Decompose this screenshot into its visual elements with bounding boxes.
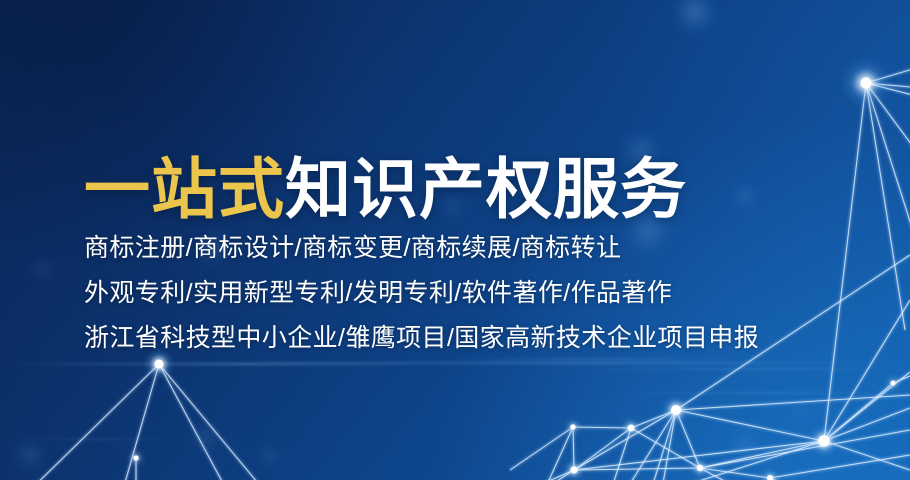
headline-highlight: 一站式 (84, 152, 285, 226)
page-title: 一站式知识产权服务 (84, 156, 687, 222)
banner-content: 一站式知识产权服务 商标注册/商标设计/商标变更/商标续展/商标转让 外观专利/… (84, 0, 824, 480)
service-line-1: 商标注册/商标设计/商标变更/商标续展/商标转让 (84, 226, 759, 271)
service-list: 商标注册/商标设计/商标变更/商标续展/商标转让 外观专利/实用新型专利/发明专… (84, 226, 759, 361)
service-line-2: 外观专利/实用新型专利/发明专利/软件著作/作品著作 (84, 271, 759, 316)
headline-rest: 知识产权服务 (285, 152, 687, 226)
service-line-3: 浙江省科技型中小企业/雏鹰项目/国家高新技术企业项目申报 (84, 316, 759, 361)
promo-banner: 一站式知识产权服务 商标注册/商标设计/商标变更/商标续展/商标转让 外观专利/… (0, 0, 910, 480)
